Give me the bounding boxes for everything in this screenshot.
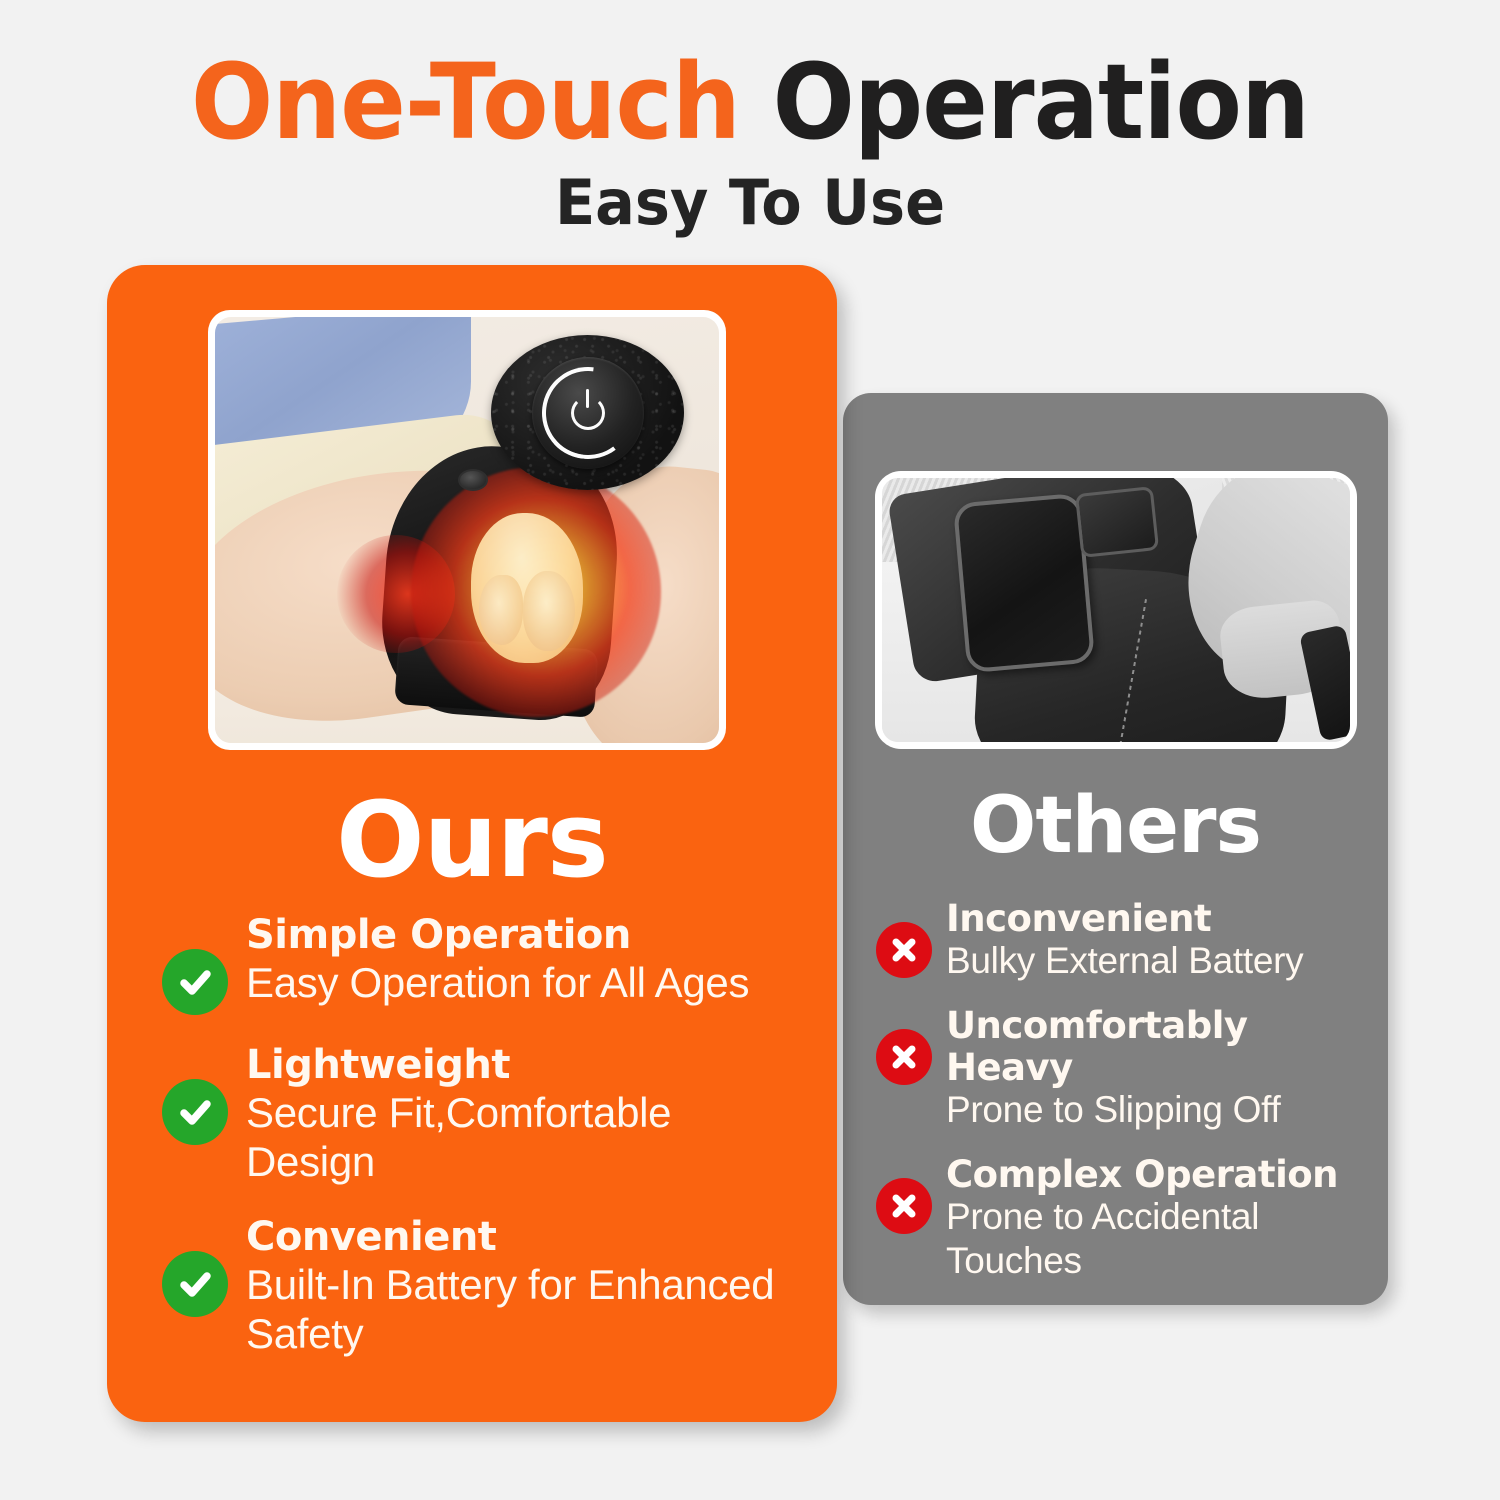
list-item-subtitle: Secure Fit,Comfortable Design — [246, 1088, 802, 1187]
list-item-text: Simple Operation Easy Operation for All … — [246, 913, 802, 1007]
list-item: Lightweight Secure Fit,Comfortable Desig… — [162, 1043, 802, 1187]
power-symbol-icon — [571, 396, 605, 430]
check-icon — [162, 949, 228, 1015]
power-button-on-brace-icon — [458, 469, 488, 491]
others-card-title: Others — [843, 787, 1388, 865]
ours-card-title: Ours — [107, 788, 837, 892]
list-item-text: Convenient Built-In Battery for Enhanced… — [246, 1215, 802, 1359]
others-product-photo — [882, 478, 1350, 742]
list-item: Inconvenient Bulky External Battery — [876, 898, 1376, 983]
list-item-title: Uncomfortably Heavy — [946, 1005, 1376, 1088]
list-item-subtitle: Prone to Accidental Touches — [946, 1195, 1376, 1282]
check-icon — [162, 1079, 228, 1145]
brace-strap-decor — [1075, 486, 1159, 558]
list-item-subtitle: Bulky External Battery — [946, 939, 1376, 983]
knee-joint-decor — [471, 513, 583, 663]
check-icon — [162, 1251, 228, 1317]
list-item-title: Complex Operation — [946, 1154, 1376, 1195]
ours-feature-list: Simple Operation Easy Operation for All … — [162, 913, 802, 1387]
external-battery-decor — [953, 493, 1095, 674]
list-item-title: Simple Operation — [246, 913, 802, 958]
power-button-callout — [491, 335, 684, 490]
list-item-subtitle: Easy Operation for All Ages — [246, 958, 802, 1008]
infographic-canvas: One-Touch Operation Easy To Use Others — [0, 0, 1500, 1500]
ours-comparison-card: Ours Simple Operation Easy Operation for… — [107, 265, 837, 1422]
headline-rest: Operation — [773, 41, 1309, 163]
list-item: Convenient Built-In Battery for Enhanced… — [162, 1215, 802, 1359]
others-comparison-card: Others Inconvenient Bulky External Batte… — [843, 393, 1388, 1305]
cross-icon — [876, 1029, 932, 1085]
ours-product-photo — [215, 317, 719, 743]
page-title: One-Touch Operation — [53, 48, 1448, 157]
list-item: Simple Operation Easy Operation for All … — [162, 913, 802, 1015]
list-item: Complex Operation Prone to Accidental To… — [876, 1154, 1376, 1283]
page-subtitle: Easy To Use — [38, 166, 1463, 239]
list-item-title: Lightweight — [246, 1043, 802, 1088]
others-feature-list: Inconvenient Bulky External Battery Unco… — [876, 898, 1376, 1304]
list-item-title: Convenient — [246, 1215, 802, 1260]
list-item-text: Lightweight Secure Fit,Comfortable Desig… — [246, 1043, 802, 1187]
list-item-text: Complex Operation Prone to Accidental To… — [946, 1154, 1376, 1283]
others-product-photo-frame — [875, 471, 1357, 749]
cross-icon — [876, 922, 932, 978]
list-item-subtitle: Prone to Slipping Off — [946, 1088, 1376, 1132]
cross-icon — [876, 1178, 932, 1234]
list-item: Uncomfortably Heavy Prone to Slipping Of… — [876, 1005, 1376, 1132]
list-item-text: Inconvenient Bulky External Battery — [946, 898, 1376, 983]
list-item-subtitle: Built-In Battery for Enhanced Safety — [246, 1260, 802, 1359]
list-item-title: Inconvenient — [946, 898, 1376, 939]
ours-product-photo-frame — [208, 310, 726, 750]
list-item-text: Uncomfortably Heavy Prone to Slipping Of… — [946, 1005, 1376, 1132]
headline-accent: One-Touch — [191, 41, 740, 163]
